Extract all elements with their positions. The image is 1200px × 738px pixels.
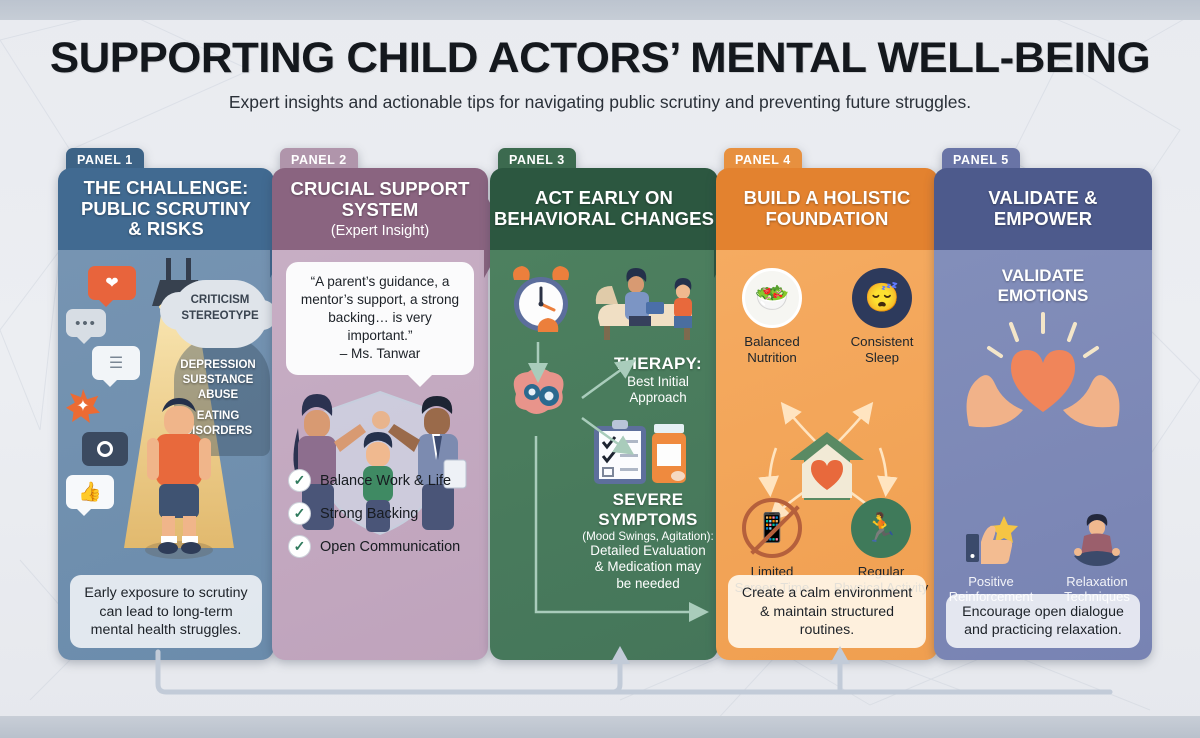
thumbs-up-icon: 👍	[66, 475, 114, 509]
panel-4-title-line2: FOUNDATION	[744, 209, 911, 230]
meditating-person-icon	[1066, 512, 1128, 570]
thought-cloud: CRITICISM STEREOTYPE	[172, 280, 268, 348]
sleep-line1: Consistent	[836, 334, 928, 350]
check-circle-icon: ✓	[288, 502, 311, 525]
nutrition-line1: Balanced	[726, 334, 818, 350]
risk-depression: DEPRESSION	[166, 358, 270, 373]
panel-1-header: THE CHALLENGE: PUBLIC SCRUTINY & RISKS	[58, 168, 274, 250]
panel-4-title-line1: BUILD A HOLISTIC	[744, 188, 911, 209]
panel-5-title-line2: EMPOWER	[988, 209, 1097, 230]
child-illustration	[136, 390, 222, 570]
panel-5-title-line1: VALIDATE &	[988, 188, 1097, 209]
header: SUPPORTING CHILD ACTORS’ MENTAL WELL-BEI…	[0, 34, 1200, 113]
positive-line1: Positive	[942, 574, 1040, 590]
check-circle-icon: ✓	[288, 535, 311, 558]
panel-5-body: VALIDATE EMOTIONS	[934, 250, 1152, 660]
nutrition-line2: Nutrition	[726, 350, 818, 366]
panel-2-title-line2: SYSTEM	[291, 200, 470, 221]
burst-icon: ✦	[66, 389, 100, 423]
pillar-consistent-sleep: 😴 Consistent Sleep	[836, 268, 928, 366]
panel-3-title-line1: ACT EARLY ON	[494, 188, 714, 209]
check-circle-icon: ✓	[288, 469, 311, 492]
panel-4[interactable]: PANEL 4	[716, 168, 938, 660]
sleeping-bed-icon: 😴	[852, 268, 912, 328]
panel-1-body: ❤ ••• ☰ ✦	[58, 250, 274, 660]
panel-3-title-line2: BEHAVIORAL CHANGES	[494, 209, 714, 230]
stereotype-label: STEREOTYPE	[181, 310, 258, 322]
relaxation-line1: Relaxation	[1048, 574, 1146, 590]
salad-bowl-icon: 🥗	[742, 268, 802, 328]
panel-2-subtitle: (Expert Insight)	[291, 223, 470, 239]
panel-3-header: ACT EARLY ON BEHAVIORAL CHANGES	[490, 168, 718, 250]
item-positive-reinforcement: Positive Reinforcement	[942, 512, 1040, 605]
panel-1-title-line3: & RISKS	[81, 219, 251, 240]
panel-1-title-line1: THE CHALLENGE:	[81, 178, 251, 199]
validate-line2: EMOTIONS	[934, 286, 1152, 306]
hands-holding-heart-icon	[959, 308, 1127, 436]
panel-3[interactable]: PANEL 3	[490, 168, 718, 660]
validate-line1: VALIDATE	[934, 266, 1152, 286]
page-title: SUPPORTING CHILD ACTORS’ MENTAL WELL-BEI…	[0, 34, 1200, 83]
sleep-line2: Sleep	[836, 350, 928, 366]
infographic-canvas: SUPPORTING CHILD ACTORS’ MENTAL WELL-BEI…	[0, 0, 1200, 738]
connector-arrowhead	[610, 646, 630, 664]
panel-4-header: BUILD A HOLISTIC FOUNDATION	[716, 168, 938, 250]
panel-2-title-line1: CRUCIAL SUPPORT	[291, 179, 470, 200]
page-subtitle: Expert insights and actionable tips for …	[0, 92, 1200, 113]
checklist-item[interactable]: ✓ Open Communication	[288, 535, 478, 558]
pillar-balanced-nutrition: 🥗 Balanced Nutrition	[726, 268, 818, 366]
panel-4-body: 🥗 Balanced Nutrition 😴 Consistent Sleep …	[716, 250, 938, 660]
panel-3-flow-arrows	[490, 250, 718, 660]
bottom-connector-arrows	[0, 640, 1200, 720]
checklist-item[interactable]: ✓ Strong Backing	[288, 502, 478, 525]
checklist-item[interactable]: ✓ Balance Work & Life	[288, 469, 478, 492]
running-person-icon: 🏃	[851, 498, 911, 558]
quote-attribution: – Ms. Tanwar	[340, 346, 421, 361]
dots-icon: •••	[66, 309, 106, 337]
support-checklist: ✓ Balance Work & Life ✓ Strong Backing ✓…	[288, 469, 478, 568]
panel-1-title-line2: PUBLIC SCRUTINY	[81, 199, 251, 220]
panel-2-body: “A parent’s guidance, a mentor’s support…	[272, 250, 488, 660]
checklist-label: Open Communication	[320, 539, 460, 555]
thumbs-up-star-icon	[960, 512, 1022, 570]
checklist-label: Strong Backing	[320, 506, 418, 522]
criticism-label: CRITICISM	[191, 294, 250, 306]
risk-substance: SUBSTANCE	[166, 373, 270, 388]
panel-3-body: THERAPY: Best Initial Approach	[490, 250, 718, 660]
panel-5[interactable]: PANEL 5 VALIDATE EMOTIONS	[934, 168, 1152, 660]
item-relaxation-techniques: Relaxation Techniques	[1048, 512, 1146, 605]
panel-1[interactable]: PANEL 1 ❤ ••• ☰ ✦	[58, 168, 274, 660]
quote-text: “A parent’s guidance, a mentor’s support…	[301, 274, 459, 343]
panel-4-caption: Create a calm environment & maintain str…	[728, 575, 926, 648]
top-border-band	[0, 0, 1200, 20]
connector-arrowhead	[830, 646, 850, 664]
checklist-label: Balance Work & Life	[320, 473, 451, 489]
expert-quote-bubble: “A parent’s guidance, a mentor’s support…	[286, 262, 474, 375]
panel-1-caption: Early exposure to scrutiny can lead to l…	[70, 575, 262, 648]
panel-2[interactable]: PANEL 2 “A parent’s guidance, a mentor’s…	[272, 168, 488, 660]
no-screens-icon: 📱	[742, 498, 802, 558]
home-heart-icon	[786, 428, 868, 504]
validate-emotions-label: VALIDATE EMOTIONS	[934, 266, 1152, 306]
panel-row: PANEL 1 ❤ ••• ☰ ✦	[0, 150, 1200, 660]
panel-5-header: VALIDATE & EMPOWER	[934, 168, 1152, 250]
panel-2-header: CRUCIAL SUPPORT SYSTEM (Expert Insight)	[272, 168, 488, 250]
